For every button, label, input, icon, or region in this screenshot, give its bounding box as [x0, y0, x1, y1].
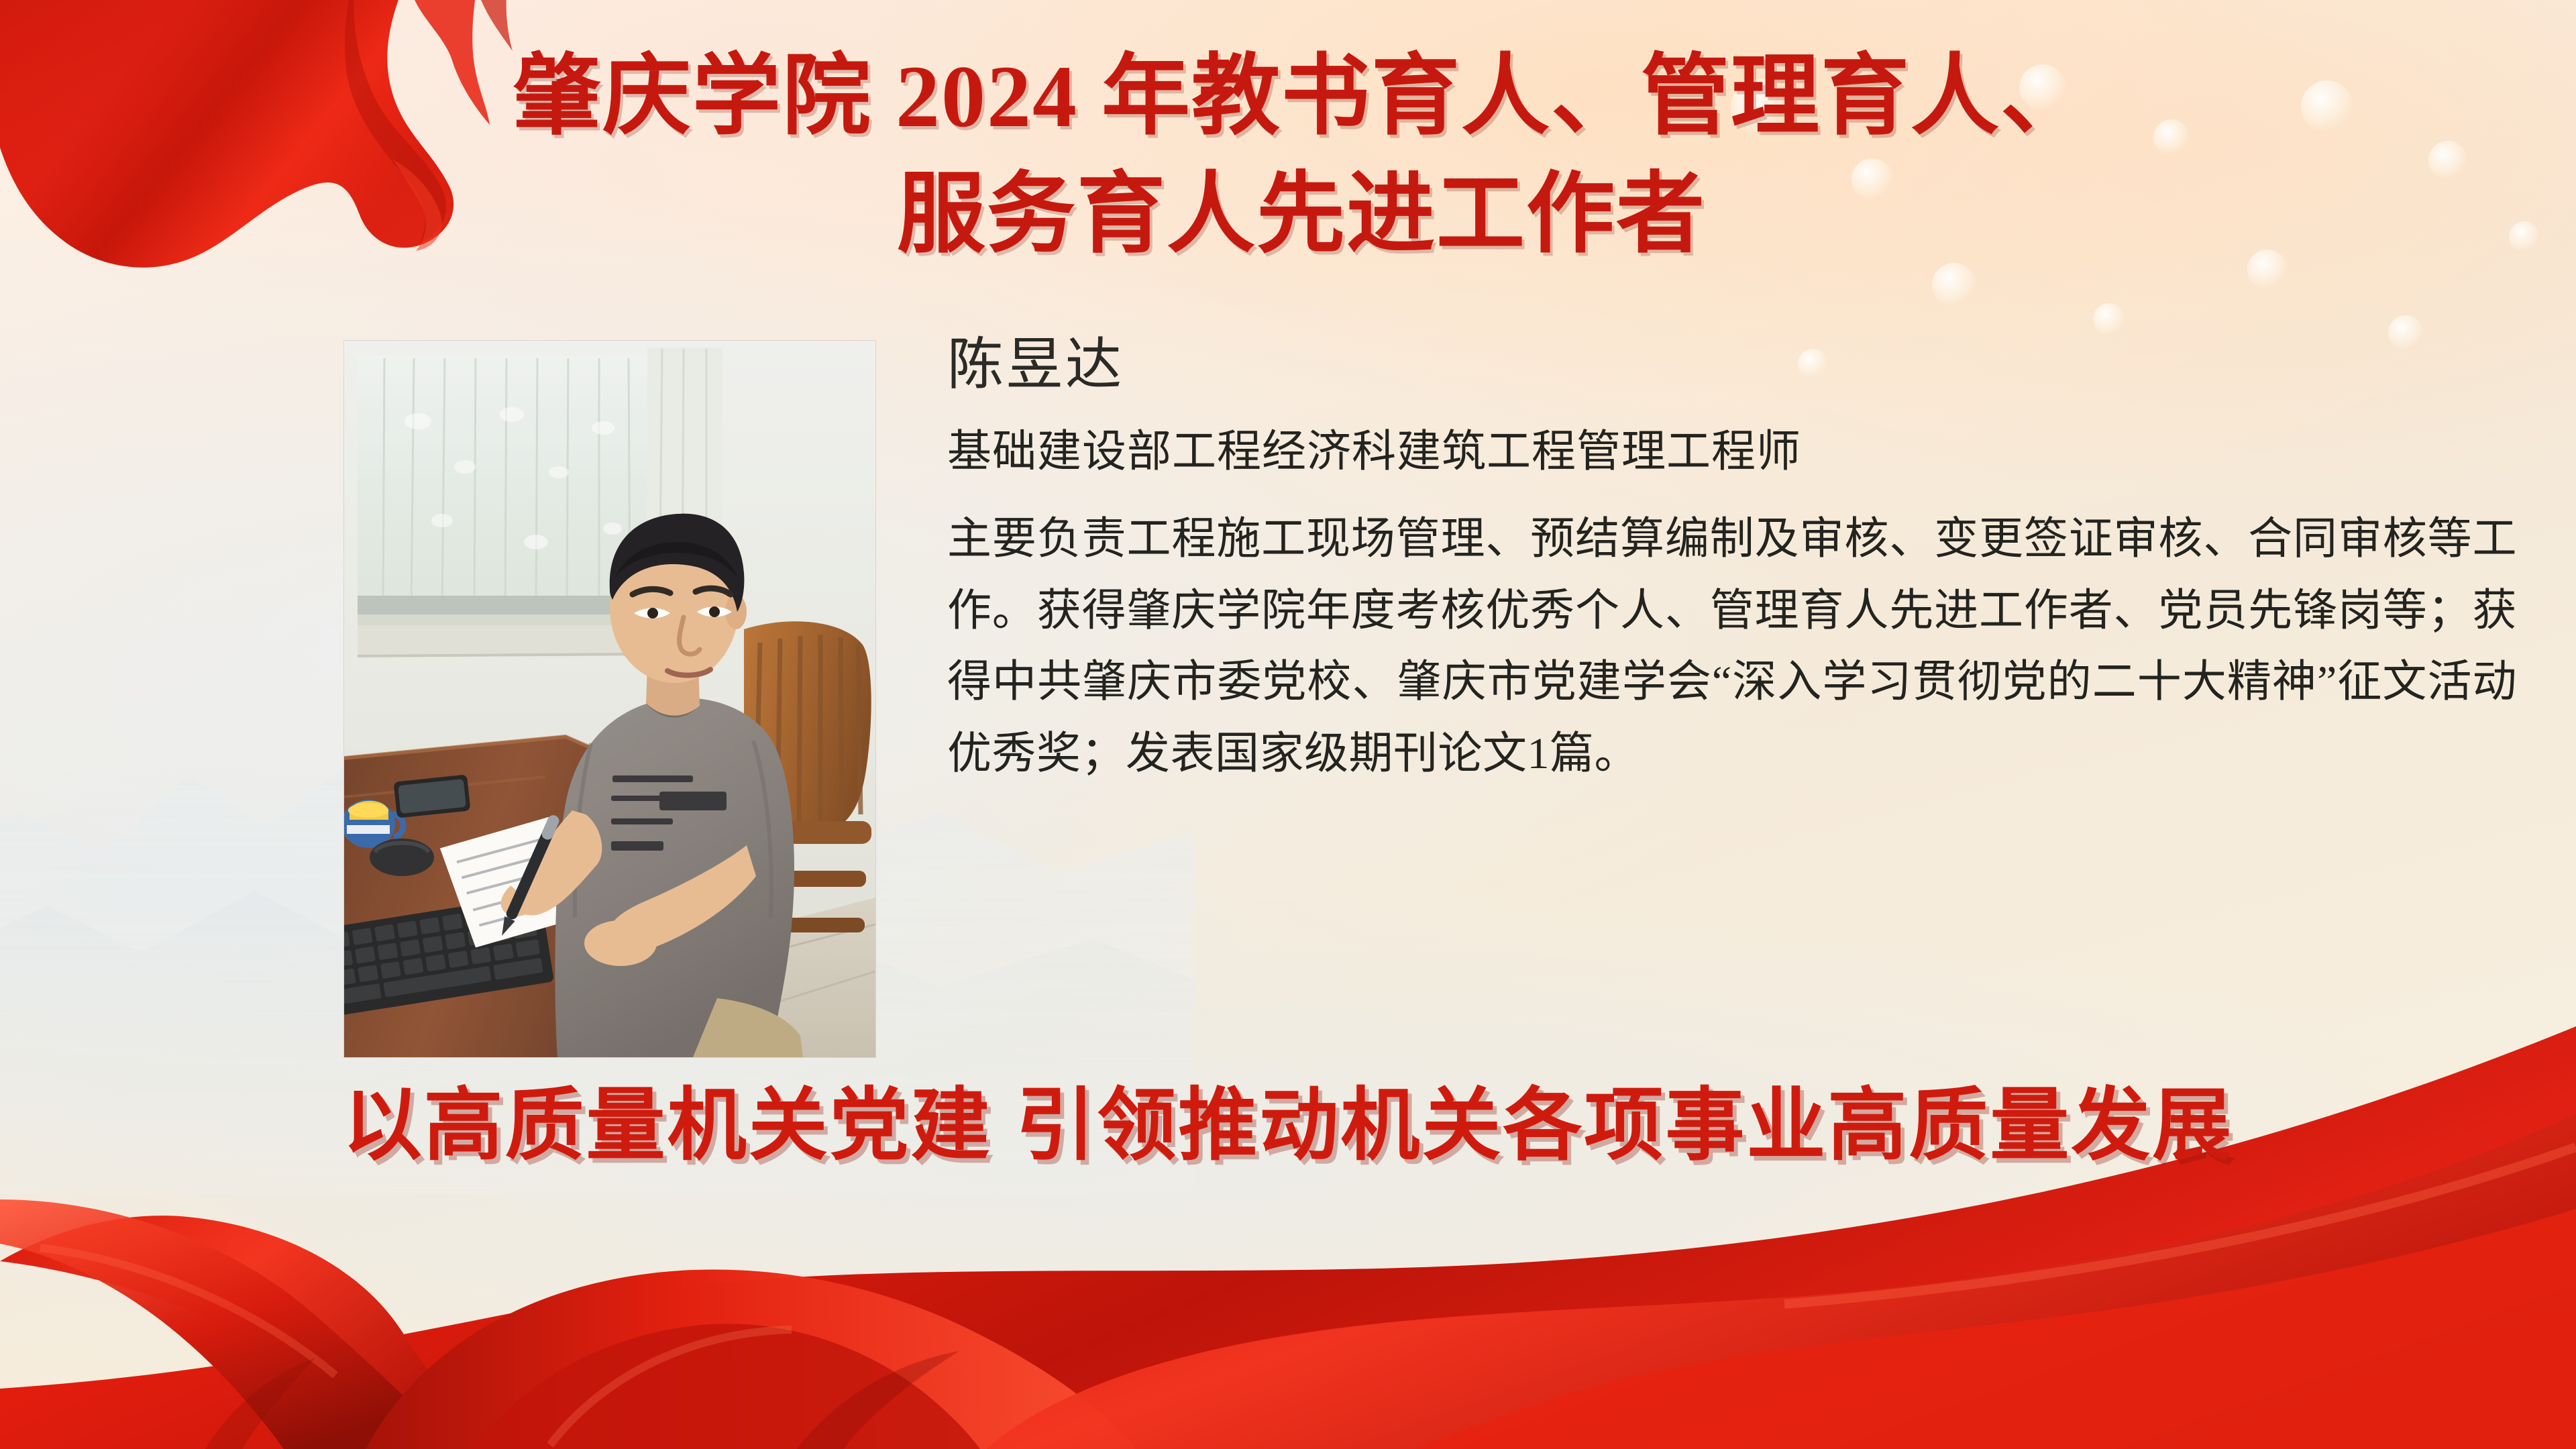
headline-line-1: 肇庆学院 2024 年教书育人、管理育人、 [376, 38, 2227, 156]
portrait-photo [344, 341, 875, 1057]
person-name: 陈昱达 [947, 335, 2517, 396]
profile-block: 陈昱达 基础建设部工程经济科建筑工程管理工程师 主要负责工程施工现场管理、预结算… [947, 335, 2517, 790]
poster-headline: 肇庆学院 2024 年教书育人、管理育人、 服务育人先进工作者 [376, 38, 2227, 273]
person-bio: 主要负责工程施工现场管理、预结算编制及审核、变更签证审核、合同审核等工作。获得肇… [947, 504, 2517, 791]
poster-slogan: 以高质量机关党建 引领推动机关各项事业高质量发展 [0, 1081, 2576, 1170]
headline-line-2: 服务育人先进工作者 [376, 156, 2227, 274]
poster-canvas: 肇庆学院 2024 年教书育人、管理育人、 服务育人先进工作者 [0, 0, 2576, 1449]
person-role: 基础建设部工程经济科建筑工程管理工程师 [947, 427, 2517, 477]
